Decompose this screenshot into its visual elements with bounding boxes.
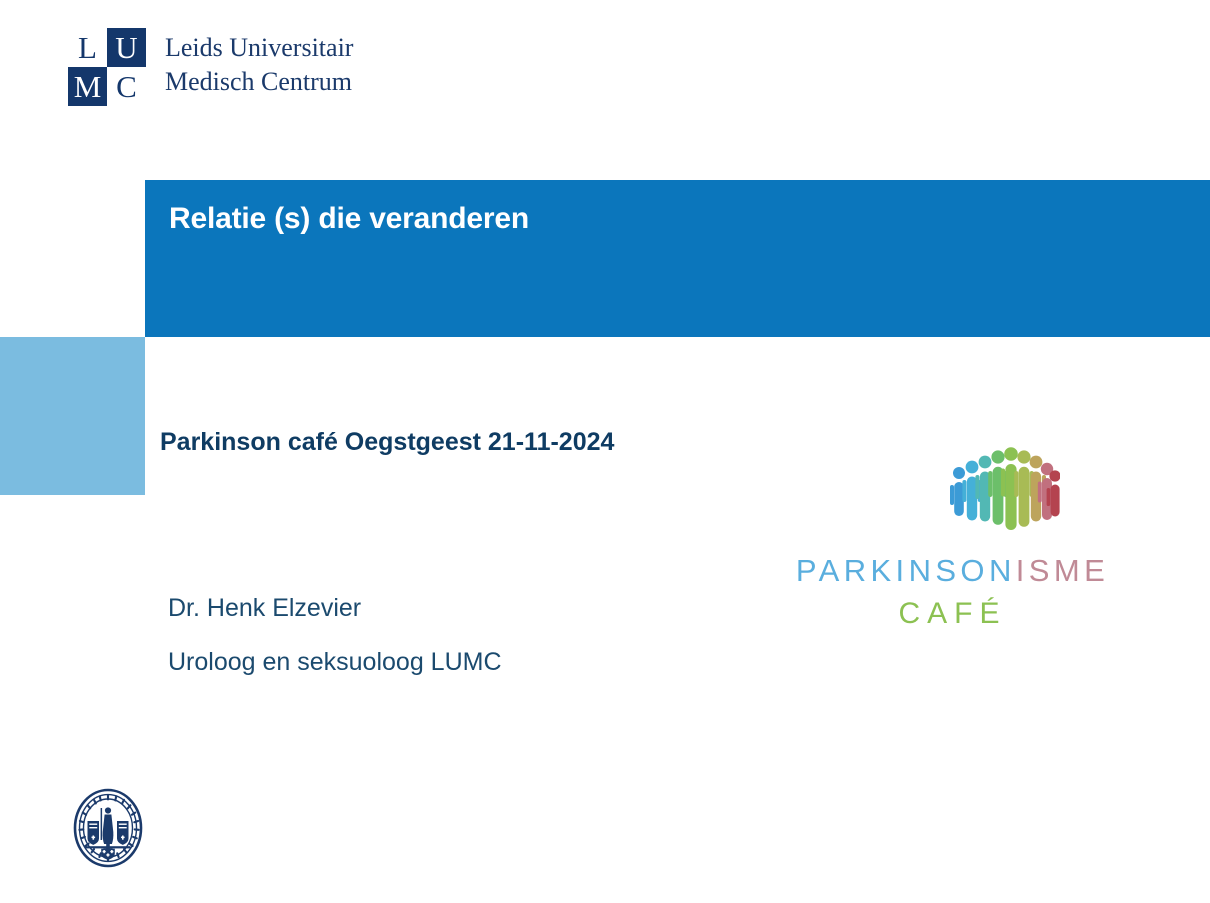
parkinsonisme-word-part2: ISME <box>1016 553 1109 588</box>
parkinsonisme-wordmark: PARKINSONISME <box>765 553 1140 589</box>
slide-title: Relatie (s) die veranderen <box>169 202 529 236</box>
people-group-icon <box>950 445 1060 540</box>
lumc-name-line-1: Leids Universitair <box>165 31 353 65</box>
lumc-letter-c: C <box>107 67 146 106</box>
lumc-letter-l: L <box>68 28 107 67</box>
lumc-logo-icon: L U M C <box>68 28 146 106</box>
lumc-logo: L U M C Leids Universitair Medisch Centr… <box>68 28 353 106</box>
event-subtitle: Parkinson café Oegstgeest 21-11-2024 <box>160 428 614 457</box>
speaker-name: Dr. Henk Elzevier <box>168 594 361 623</box>
lumc-letter-m: M <box>68 67 107 106</box>
accent-block <box>0 337 145 495</box>
leiden-university-seal-icon <box>68 788 148 868</box>
speaker-role: Uroloog en seksuoloog LUMC <box>168 648 502 677</box>
parkinsonisme-word-part1: PARKINSON <box>796 553 1016 588</box>
title-band: Relatie (s) die veranderen <box>145 180 1210 337</box>
lumc-wordmark: Leids Universitair Medisch Centrum <box>165 31 353 99</box>
lumc-letter-u: U <box>107 28 146 67</box>
parkinsonisme-cafe-logo: PARKINSONISME CAFÉ <box>765 445 1140 645</box>
lumc-name-line-2: Medisch Centrum <box>165 65 353 99</box>
parkinsonisme-cafe-word: CAFÉ <box>765 597 1140 631</box>
